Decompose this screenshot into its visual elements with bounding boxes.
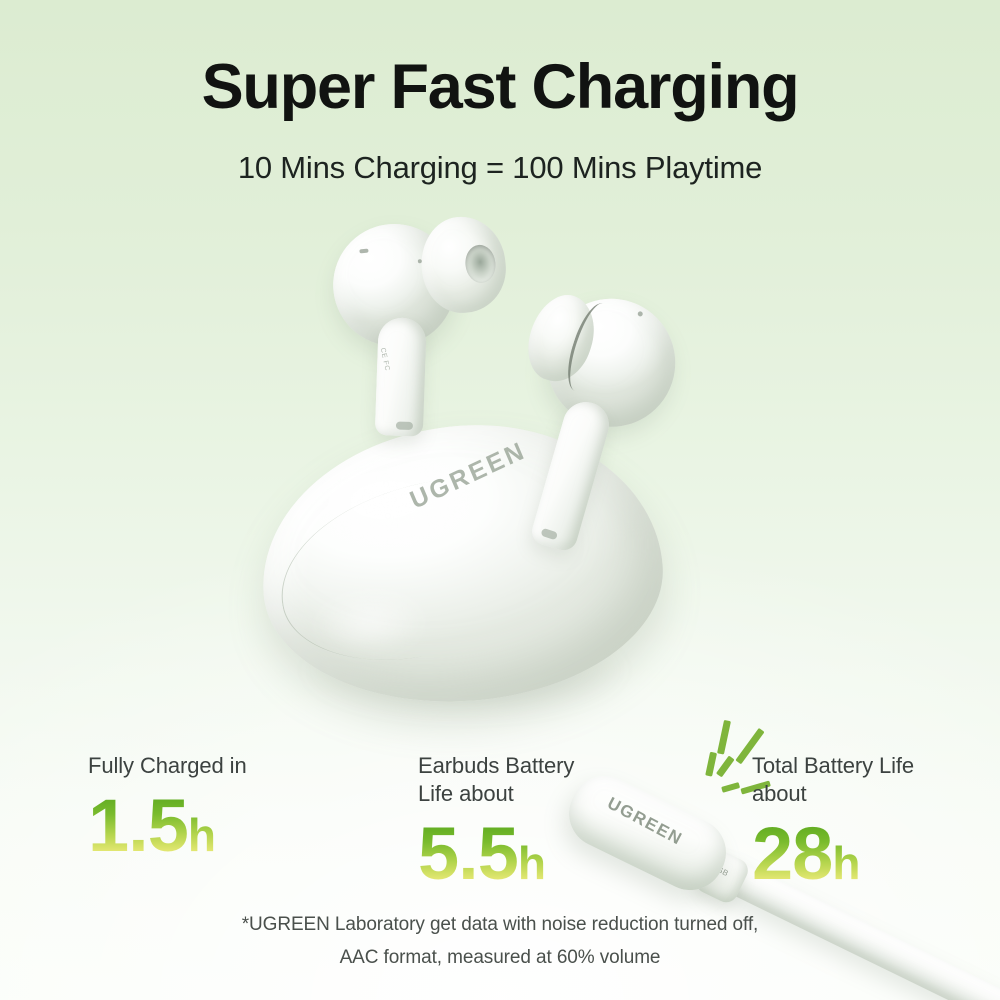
footnote-disclaimer: *UGREEN Laboratory get data with noise r… — [0, 908, 1000, 974]
earbud-left-charging-pin — [396, 421, 413, 430]
stat-unit: h — [188, 809, 215, 861]
earbud-left-stem — [375, 317, 427, 437]
product-marketing-poster: Super Fast Charging 10 Mins Charging = 1… — [0, 0, 1000, 1000]
page-title: Super Fast Charging — [0, 56, 1000, 119]
stat-label: Total Battery Life about — [752, 752, 914, 808]
stat-number: 1.5 — [88, 784, 188, 867]
stat-fully-charged: Fully Charged in 1.5h — [88, 752, 247, 860]
page-subtitle: 10 Mins Charging = 100 Mins Playtime — [0, 152, 1000, 183]
stat-unit: h — [518, 837, 545, 889]
product-image: UGREEN CE FC — [0, 190, 1000, 770]
stat-label: Fully Charged in — [88, 752, 247, 780]
stat-total-battery: Total Battery Life about 28h — [752, 752, 914, 888]
stat-value: 1.5h — [88, 792, 215, 860]
stat-number: 5.5 — [418, 812, 518, 895]
stat-unit: h — [832, 837, 859, 889]
stat-earbuds-battery: Earbuds Battery Life about 5.5h — [418, 752, 574, 888]
stat-label: Earbuds Battery Life about — [418, 752, 574, 808]
stat-value: 5.5h — [418, 820, 545, 888]
stat-value: 28h — [752, 820, 859, 888]
battery-stats-row: Fully Charged in 1.5h Earbuds Battery Li… — [0, 752, 1000, 902]
stat-number: 28 — [752, 812, 832, 895]
